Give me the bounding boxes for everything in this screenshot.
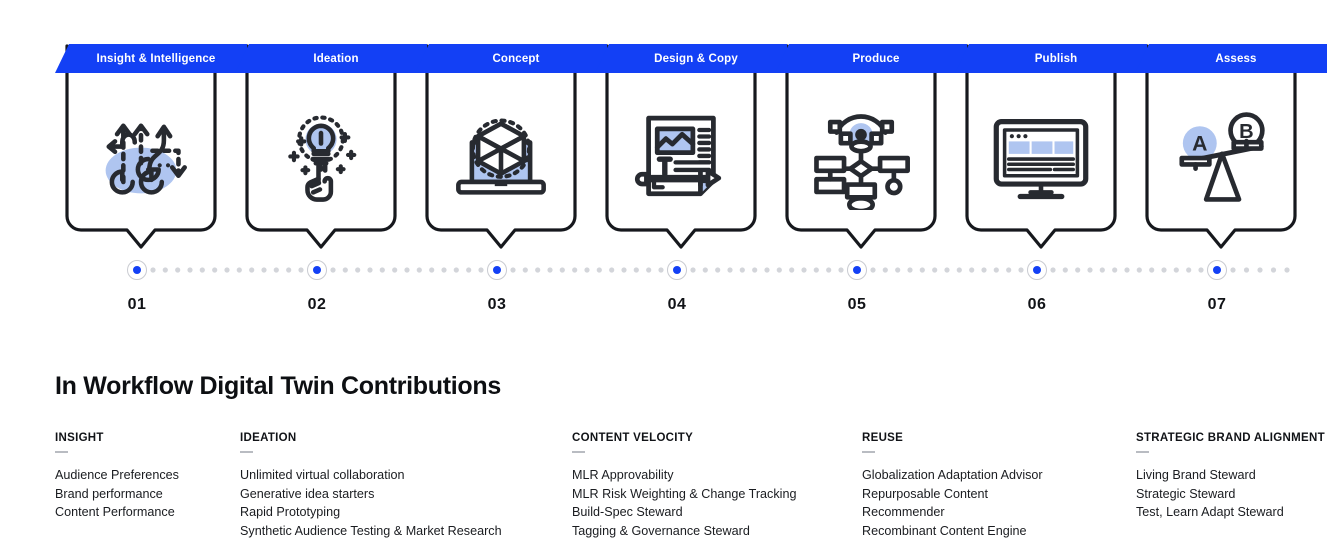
stage-number: 03 [415,296,579,314]
contribution-item: Content Performance [55,503,179,522]
column-rule [862,451,875,453]
stage-number: 02 [235,296,399,314]
contribution-item: Recombinant Content Engine [862,522,1043,541]
contribution-item: Globalization Adaptation Advisor [862,466,1043,485]
column-heading: CONTENT VELOCITY [572,432,796,444]
contribution-item: Recommender [862,503,1043,522]
contribution-item: Brand performance [55,485,179,504]
stage-banner-02[interactable]: Ideation [235,44,427,73]
timeline-station-06[interactable] [1027,260,1047,280]
contribution-item: Build-Spec Steward [572,503,796,522]
contribution-column-1: INSIGHT Audience PreferencesBrand perfor… [55,432,179,522]
stage-card-02[interactable]: Ideation [235,44,415,319]
stage-number: 01 [55,296,219,314]
stage-label: Assess [1205,53,1256,65]
station-dot [493,266,501,274]
contribution-item: Living Brand Steward [1136,466,1325,485]
contribution-item: MLR Approvability [572,466,796,485]
section-title: In Workflow Digital Twin Contributions [55,372,501,401]
station-dot [1033,266,1041,274]
infographic-root: Insight & Intelligence [0,0,1344,558]
column-heading: INSIGHT [55,432,179,444]
column-heading: REUSE [862,432,1043,444]
timeline-station-02[interactable] [307,260,327,280]
workflow-nodes-icon [785,82,937,232]
stage-banner-05[interactable]: Produce [775,44,967,73]
monitor-layout-icon [965,82,1117,232]
stage-banner-01[interactable]: Insight & Intelligence [55,44,247,73]
stage-label: Produce [842,53,899,65]
stage-card-03[interactable]: Concept 03 [415,44,595,319]
stage-label: Publish [1025,53,1078,65]
stage-number: 06 [955,296,1119,314]
stage-label: Concept [482,53,539,65]
stage-card-05[interactable]: Produce [775,44,955,319]
stage-number: 05 [775,296,939,314]
stage-number: 07 [1135,296,1299,314]
column-rule [55,451,68,453]
contribution-item: Test, Learn Adapt Steward [1136,503,1325,522]
timeline-station-07[interactable] [1207,260,1227,280]
ab-test-scale-icon: A B [1145,82,1297,232]
contributions-section: In Workflow Digital Twin Contributions I… [0,340,1344,558]
stage-card-06[interactable]: Publish 06 [955,44,1135,319]
svg-text:A: A [1192,133,1207,156]
contribution-column-2: IDEATION Unlimited virtual collaboration… [240,432,502,540]
contribution-item: Repurposable Content [862,485,1043,504]
contribution-item: Synthetic Audience Testing & Market Rese… [240,522,502,541]
timeline-station-04[interactable] [667,260,687,280]
stage-timeline: Insight & Intelligence [0,0,1344,330]
stage-label: Design & Copy [644,53,738,65]
document-pen-icon [605,82,757,232]
contribution-item: Unlimited virtual collaboration [240,466,502,485]
contribution-item: Tagging & Governance Steward [572,522,796,541]
timeline-station-03[interactable] [487,260,507,280]
column-heading: IDEATION [240,432,502,444]
stage-banner-03[interactable]: Concept [415,44,607,73]
stage-banner-04[interactable]: Design & Copy [595,44,787,73]
station-dot [133,266,141,274]
laptop-cube-icon [425,82,577,232]
contribution-column-4: REUSE Globalization Adaptation AdvisorRe… [862,432,1043,540]
contribution-column-3: CONTENT VELOCITY MLR ApprovabilityMLR Ri… [572,432,796,540]
stage-banner-06[interactable]: Publish [955,44,1147,73]
station-dot [853,266,861,274]
lightbulb-hand-icon [245,82,397,232]
contribution-item: MLR Risk Weighting & Change Tracking [572,485,796,504]
contribution-item: Strategic Steward [1136,485,1325,504]
contribution-item: Audience Preferences [55,466,179,485]
stage-banner-07[interactable]: Assess [1135,44,1327,73]
station-dot [673,266,681,274]
column-rule [240,451,253,453]
stage-card-01[interactable]: Insight & Intelligence [55,44,235,319]
stage-card-04[interactable]: Design & Copy [595,44,775,319]
column-rule [1136,451,1149,453]
contribution-item: Generative idea starters [240,485,502,504]
timeline-station-05[interactable] [847,260,867,280]
contribution-item: Rapid Prototyping [240,503,502,522]
stage-label: Ideation [303,53,358,65]
stage-number: 04 [595,296,759,314]
column-rule [572,451,585,453]
stage-card-07[interactable]: Assess A B 07 [1135,44,1315,319]
stage-label: Insight & Intelligence [87,53,216,65]
station-dot [1213,266,1221,274]
strategy-arrows-icon [65,82,217,232]
contribution-column-5: STRATEGIC BRAND ALIGNMENT Living Brand S… [1136,432,1325,522]
column-heading: STRATEGIC BRAND ALIGNMENT [1136,432,1325,444]
timeline-station-01[interactable] [127,260,147,280]
station-dot [313,266,321,274]
